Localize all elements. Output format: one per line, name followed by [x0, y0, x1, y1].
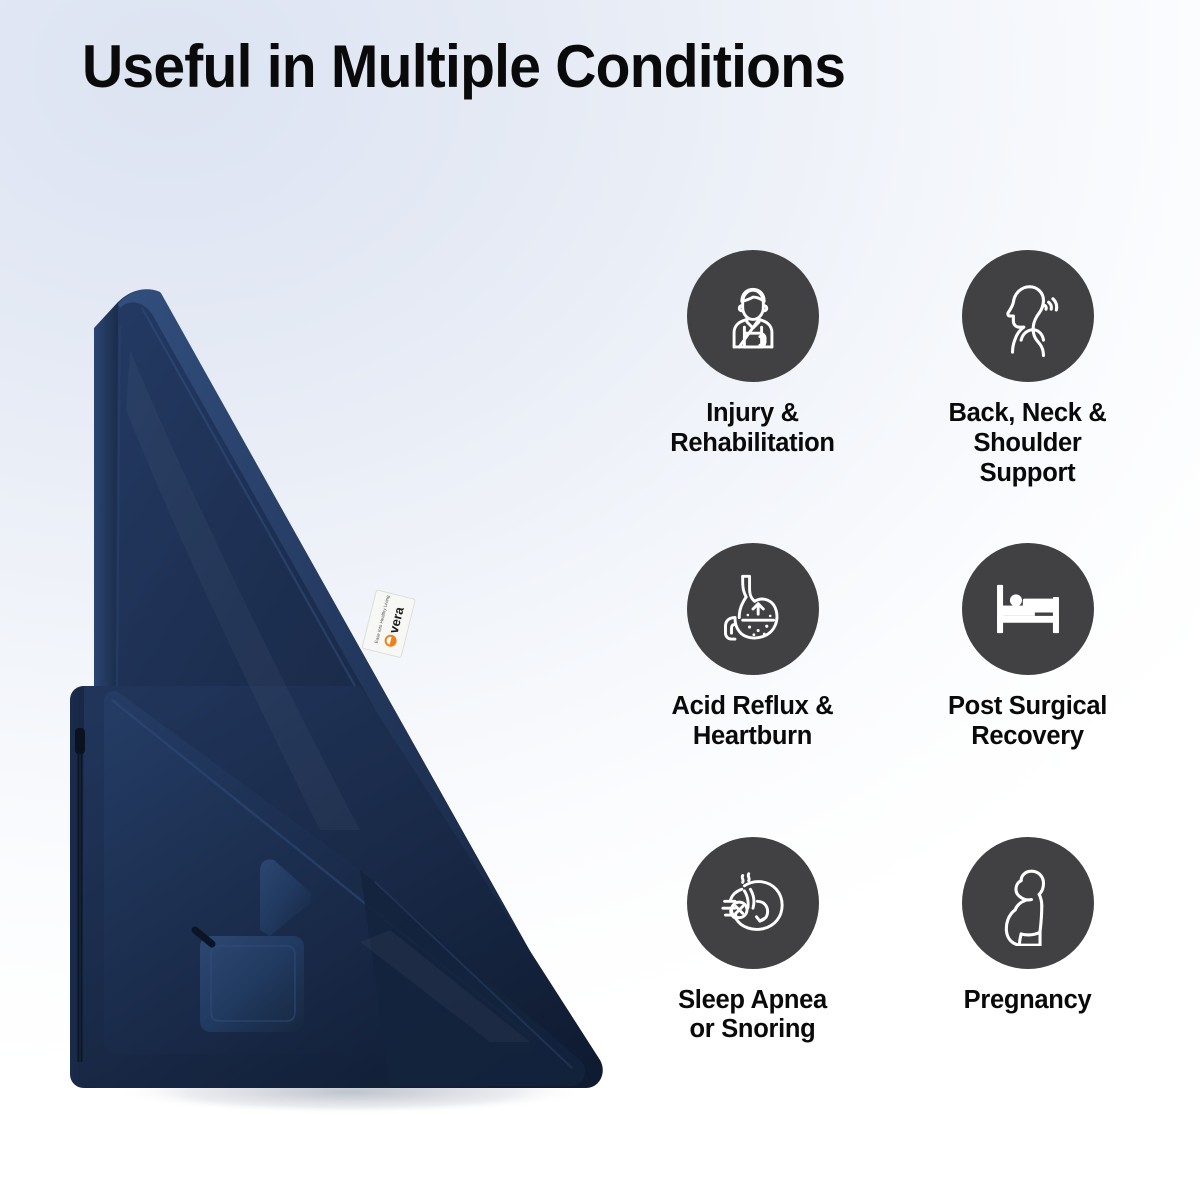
label-line: Sleep Apnea [678, 986, 827, 1016]
infographic-poster: Useful in Multiple Conditions [0, 0, 1200, 1200]
label-line: Recovery [948, 722, 1107, 752]
stomach-acid-reflux-icon [710, 566, 796, 652]
label-line: Shoulder [949, 429, 1107, 459]
person-in-bed-icon [985, 566, 1071, 652]
icon-circle-back-neck-shoulder-support [962, 250, 1094, 382]
page-title: Useful in Multiple Conditions [82, 36, 1080, 98]
label-line: Injury & [670, 399, 834, 429]
feature-acid-reflux-heartburn[interactable]: Acid Reflux & Heartburn [620, 543, 885, 836]
feature-label-back-neck-shoulder-support: Back, Neck & Shoulder Support [949, 399, 1107, 488]
brand-tag: vera Ease into Healthy Living [362, 590, 415, 658]
feature-label-injury-rehabilitation: Injury & Rehabilitation [670, 399, 834, 459]
feature-label-acid-reflux-heartburn: Acid Reflux & Heartburn [672, 692, 834, 752]
label-line: Post Surgical [948, 692, 1107, 722]
icon-circle-sleep-apnea-snoring [687, 837, 819, 969]
icon-circle-acid-reflux-heartburn [687, 543, 819, 675]
product-image: vera Ease into Healthy Living [60, 230, 640, 1150]
feature-label-pregnancy: Pregnancy [964, 986, 1092, 1016]
wedge-pillow-illustration: vera Ease into Healthy Living [60, 230, 640, 1150]
icon-circle-post-surgical-recovery [962, 543, 1094, 675]
feature-label-sleep-apnea-snoring: Sleep Apnea or Snoring [678, 986, 827, 1046]
snoring-blocked-airway-icon [710, 860, 796, 946]
feature-sleep-apnea-snoring[interactable]: Sleep Apnea or Snoring [620, 837, 885, 1130]
zipper-pull [75, 728, 85, 754]
label-line: Pregnancy [964, 986, 1092, 1016]
icon-circle-pregnancy [962, 837, 1094, 969]
feature-post-surgical-recovery[interactable]: Post Surgical Recovery [895, 543, 1160, 836]
label-line: Back, Neck & [949, 399, 1107, 429]
label-line: Rehabilitation [670, 429, 834, 459]
carry-handle-strap [195, 930, 304, 1032]
label-line: Heartburn [672, 722, 834, 752]
label-line: Acid Reflux & [672, 692, 834, 722]
neck-pain-profile-icon [985, 273, 1071, 359]
icon-circle-injury-rehabilitation [687, 250, 819, 382]
label-line: or Snoring [678, 1015, 827, 1045]
person-arm-sling-icon [710, 273, 796, 359]
feature-label-post-surgical-recovery: Post Surgical Recovery [948, 692, 1107, 752]
feature-injury-rehabilitation[interactable]: Injury & Rehabilitation [620, 250, 885, 543]
feature-pregnancy[interactable]: Pregnancy [895, 837, 1160, 1130]
pregnant-woman-icon [985, 860, 1071, 946]
feature-grid: Injury & Rehabilitation [620, 250, 1160, 1130]
label-line: Support [949, 459, 1107, 489]
feature-back-neck-shoulder-support[interactable]: Back, Neck & Shoulder Support [895, 250, 1160, 543]
